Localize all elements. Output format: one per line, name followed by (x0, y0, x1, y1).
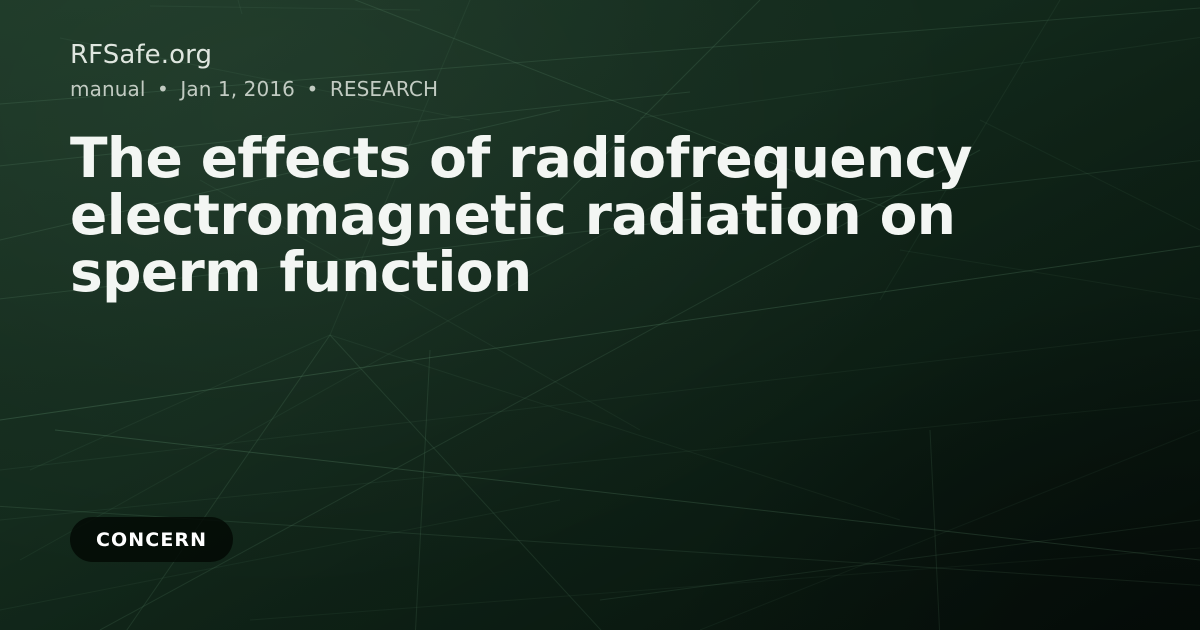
site-name: RFSafe.org (70, 38, 1130, 72)
page-title: The effects of radiofrequency electromag… (70, 130, 1080, 301)
meta-separator-1: • (152, 77, 174, 101)
og-card: RFSafe.org manual • Jan 1, 2016 • RESEAR… (0, 0, 1200, 630)
meta-separator-2: • (301, 77, 323, 101)
status-badge: CONCERN (70, 517, 233, 562)
meta-line: manual • Jan 1, 2016 • RESEARCH (70, 76, 1130, 103)
badge-row: CONCERN (70, 517, 233, 562)
meta-category: RESEARCH (330, 77, 438, 101)
meta-type: manual (70, 77, 146, 101)
meta-date: Jan 1, 2016 (180, 77, 295, 101)
